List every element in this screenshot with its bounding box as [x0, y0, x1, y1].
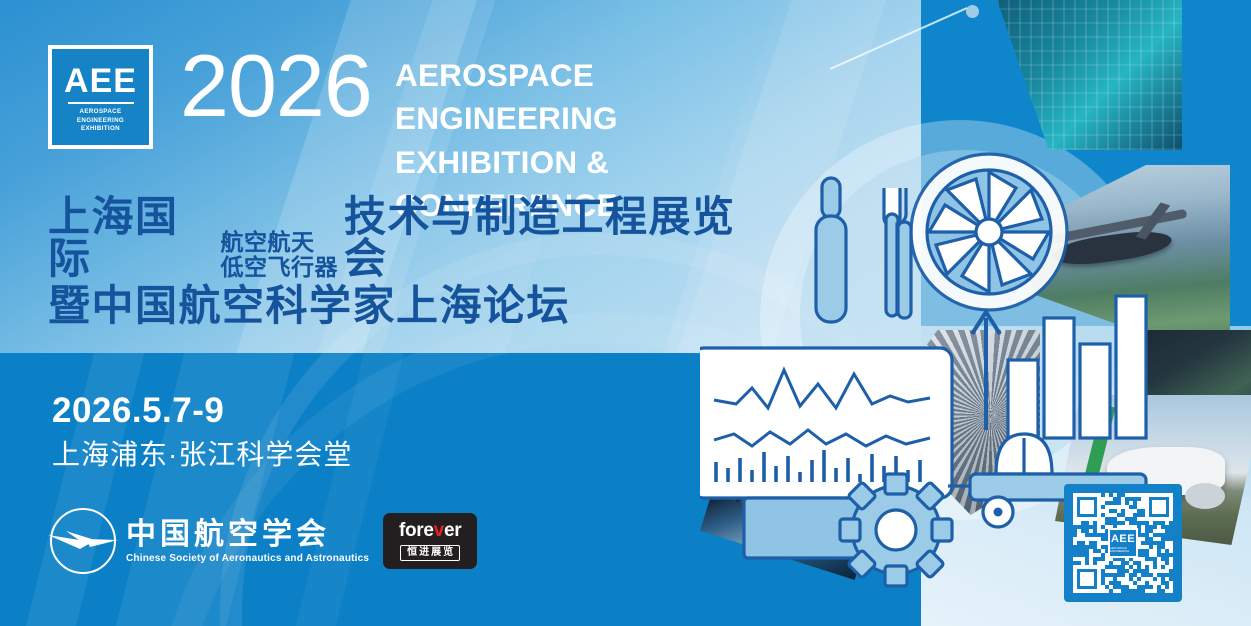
qr-module	[1089, 521, 1093, 525]
qr-center-sub: AEROSPACE ENGINEERING	[1110, 547, 1136, 553]
qr-module	[1141, 537, 1145, 541]
chinese-title-line2: 暨中国航空科学家上海论坛	[48, 285, 570, 327]
csaa-name-cn: 中国航空学会	[126, 518, 369, 551]
aee-logo: AEE AEROSPACE ENGINEERING EXHIBITION	[48, 45, 153, 149]
csaa-name-en: Chinese Society of Aeronautics and Astro…	[126, 553, 369, 565]
qr-matrix: AEE AEROSPACE ENGINEERING	[1073, 493, 1173, 593]
qr-module	[1169, 565, 1173, 569]
qr-module	[1073, 541, 1077, 545]
forever-logo: forever 恒进展览	[383, 513, 477, 569]
qr-module	[1117, 589, 1121, 593]
qr-module	[1165, 521, 1169, 525]
qr-module	[1109, 497, 1113, 501]
qr-module	[1149, 521, 1153, 525]
gear-icon	[840, 474, 952, 586]
qr-module	[1133, 509, 1137, 513]
csaa-text: 中国航空学会 Chinese Society of Aeronautics an…	[126, 518, 369, 565]
qr-code[interactable]: AEE AEROSPACE ENGINEERING	[1064, 484, 1182, 602]
qr-center-logo: AEE AEROSPACE ENGINEERING	[1108, 528, 1138, 558]
plane-glyph	[46, 529, 120, 555]
qr-module	[1141, 529, 1145, 533]
qr-module	[1113, 493, 1117, 497]
plane-circle-icon	[50, 508, 116, 574]
organizer-logos: 中国航空学会 Chinese Society of Aeronautics an…	[50, 508, 477, 574]
qr-module	[1101, 529, 1105, 533]
qr-finder-pattern	[1073, 565, 1101, 593]
qr-module	[1117, 509, 1121, 513]
aee-logo-mark: AEE	[64, 64, 137, 98]
qr-finder-pattern	[1073, 493, 1101, 521]
event-banner: AEE AEROSPACE ENGINEERING EXHIBITION 202…	[0, 0, 1251, 626]
qr-module	[1161, 549, 1165, 553]
bar-chart-arrow-icon	[972, 296, 1146, 438]
aee-logo-subtitle-line1: AEROSPACE ENGINEERING	[77, 108, 124, 124]
csaa-logo: 中国航空学会 Chinese Society of Aeronautics an…	[50, 508, 369, 574]
chinese-title-prefix: 上海国际	[48, 196, 214, 280]
qr-module	[1077, 521, 1081, 525]
qr-module	[1129, 513, 1133, 517]
qr-finder-pattern	[1145, 493, 1173, 521]
qr-module	[1117, 561, 1121, 565]
event-year: 2026	[180, 42, 372, 130]
qr-module	[1169, 589, 1173, 593]
qr-module	[1161, 529, 1165, 533]
qr-module	[1097, 553, 1101, 557]
chinese-title-suffix: 技术与制造工程展览会	[344, 196, 760, 280]
qr-module	[1089, 529, 1093, 533]
forever-accent-letter: v	[434, 520, 444, 541]
aee-logo-subtitle-line2: EXHIBITION	[81, 125, 120, 132]
qr-center-label: AEE	[1111, 534, 1135, 545]
aee-logo-subtitle: AEROSPACE ENGINEERING EXHIBITION	[64, 108, 138, 135]
chinese-title-stack-top: 航空航天	[220, 230, 338, 254]
turbine-fan-icon	[911, 154, 1067, 310]
qr-module	[1141, 581, 1145, 585]
qr-module	[1141, 565, 1145, 569]
english-headline-line1: AEROSPACE ENGINEERING	[395, 54, 760, 141]
decorative-node	[966, 5, 979, 18]
qr-module	[1157, 537, 1161, 541]
qr-module	[1153, 589, 1157, 593]
aee-logo-rule	[68, 102, 134, 104]
qr-module	[1105, 561, 1109, 565]
chinese-title-line1: 上海国际 航空航天 低空飞行器 技术与制造工程展览会	[48, 196, 760, 280]
qr-module	[1109, 577, 1113, 581]
qr-module	[1165, 569, 1169, 573]
banner-content: AEE AEROSPACE ENGINEERING EXHIBITION 202…	[0, 0, 760, 626]
qr-module	[1169, 549, 1173, 553]
event-venue: 上海浦东·张江科学会堂	[52, 441, 352, 469]
chinese-title-stack: 航空航天 低空飞行器	[220, 230, 338, 279]
forever-wordmark: forever	[399, 521, 461, 540]
chinese-title-stack-bottom: 低空飞行器	[220, 255, 338, 279]
qr-module	[1133, 565, 1137, 569]
qr-module	[1113, 569, 1117, 573]
qr-module	[1133, 585, 1137, 589]
qr-module	[1129, 569, 1133, 573]
qr-module	[1129, 501, 1133, 505]
screwdriver-icon	[816, 178, 846, 322]
event-date: 2026.5.7-9	[52, 393, 224, 428]
qr-module	[1105, 589, 1109, 593]
forever-name-cn: 恒进展览	[400, 545, 460, 562]
qr-module	[1085, 541, 1089, 545]
